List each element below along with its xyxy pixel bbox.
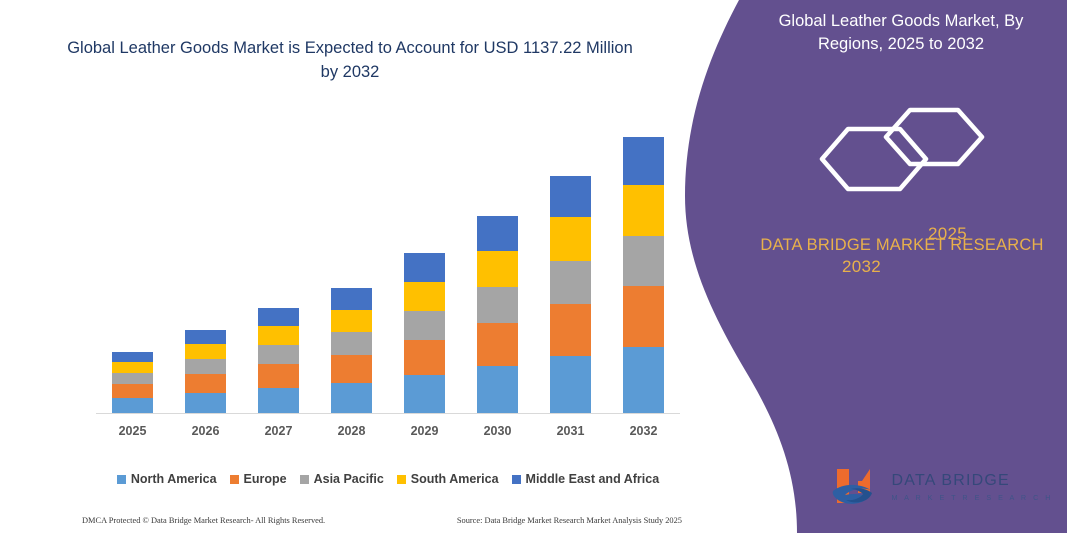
axis-baseline: [96, 413, 680, 414]
bar-segment: [112, 384, 153, 398]
legend-item: South America: [397, 472, 499, 486]
bar-segment: [185, 393, 226, 413]
bar-segment: [258, 345, 299, 364]
bar-segment: [331, 288, 372, 310]
bar-segment: [185, 359, 226, 374]
bar-group: [96, 120, 680, 413]
x-axis-tick-2028: 2028: [315, 424, 388, 438]
legend-label: Europe: [244, 472, 287, 486]
legend-swatch-icon: [397, 475, 406, 484]
chart-legend: North AmericaEuropeAsia PacificSouth Ame…: [96, 472, 680, 486]
bar-segment: [623, 347, 664, 413]
bar-segment: [258, 308, 299, 326]
x-axis-tick-2031: 2031: [534, 424, 607, 438]
footer-copyright: DMCA Protected © Data Bridge Market Rese…: [82, 516, 325, 525]
bar-column: [388, 120, 461, 413]
bar-segment: [112, 373, 153, 384]
chart-region: Global Leather Goods Market is Expected …: [0, 0, 700, 533]
legend-item: North America: [117, 472, 217, 486]
legend-label: Asia Pacific: [314, 472, 384, 486]
bar-segment: [185, 330, 226, 344]
bar-stack-2025: [112, 352, 153, 413]
legend-item: Middle East and Africa: [512, 472, 660, 486]
footer: DMCA Protected © Data Bridge Market Rese…: [82, 516, 682, 525]
bar-segment: [623, 137, 664, 185]
bar-segment: [112, 352, 153, 362]
bar-segment: [331, 355, 372, 383]
bar-segment: [258, 326, 299, 345]
legend-label: Middle East and Africa: [526, 472, 660, 486]
bar-column: [242, 120, 315, 413]
bar-segment: [477, 251, 518, 287]
legend-label: North America: [131, 472, 217, 486]
bar-segment: [404, 375, 445, 413]
plot-area: [96, 120, 680, 414]
bar-segment: [550, 176, 591, 217]
bar-stack-2026: [185, 330, 226, 413]
bar-segment: [404, 340, 445, 375]
footer-source: Source: Data Bridge Market Research Mark…: [457, 516, 682, 525]
legend-item: Asia Pacific: [300, 472, 384, 486]
bar-stack-2028: [331, 288, 372, 413]
x-axis-tick-2029: 2029: [388, 424, 461, 438]
bar-segment: [623, 236, 664, 286]
bar-segment: [623, 286, 664, 347]
x-axis-tick-2032: 2032: [607, 424, 680, 438]
legend-swatch-icon: [300, 475, 309, 484]
bar-segment: [477, 323, 518, 366]
x-axis-tick-2025: 2025: [96, 424, 169, 438]
legend-swatch-icon: [512, 475, 521, 484]
bar-segment: [331, 332, 372, 355]
bar-column: [96, 120, 169, 413]
x-axis-tick-2027: 2027: [242, 424, 315, 438]
bar-segment: [550, 356, 591, 413]
legend-swatch-icon: [230, 475, 239, 484]
x-axis-tick-2030: 2030: [461, 424, 534, 438]
bar-segment: [404, 253, 445, 282]
legend-item: Europe: [230, 472, 287, 486]
right-panel-background: [667, 0, 1067, 533]
bar-segment: [477, 216, 518, 251]
chart-title: Global Leather Goods Market is Expected …: [60, 36, 640, 85]
bar-column: [607, 120, 680, 413]
bar-segment: [550, 261, 591, 304]
legend-swatch-icon: [117, 475, 126, 484]
bar-stack-2030: [477, 216, 518, 413]
bar-segment: [112, 398, 153, 413]
x-axis-tick-2026: 2026: [169, 424, 242, 438]
bar-stack-2032: [623, 137, 664, 413]
bar-segment: [331, 310, 372, 332]
bar-segment: [258, 364, 299, 388]
bar-column: [534, 120, 607, 413]
bar-segment: [477, 366, 518, 413]
bar-column: [169, 120, 242, 413]
bar-segment: [331, 383, 372, 413]
bar-segment: [477, 287, 518, 323]
bar-segment: [404, 311, 445, 340]
bar-segment: [258, 388, 299, 413]
bar-segment: [112, 362, 153, 373]
bar-segment: [550, 304, 591, 356]
bar-stack-2027: [258, 308, 299, 413]
bar-segment: [623, 185, 664, 236]
bar-column: [315, 120, 388, 413]
bar-stack-2029: [404, 253, 445, 413]
bar-stack-2031: [550, 176, 591, 413]
x-axis-labels: 20252026202720282029203020312032: [96, 424, 680, 438]
bar-segment: [185, 374, 226, 393]
bar-segment: [185, 344, 226, 359]
legend-label: South America: [411, 472, 499, 486]
bar-segment: [404, 282, 445, 311]
bar-column: [461, 120, 534, 413]
bar-segment: [550, 217, 591, 261]
